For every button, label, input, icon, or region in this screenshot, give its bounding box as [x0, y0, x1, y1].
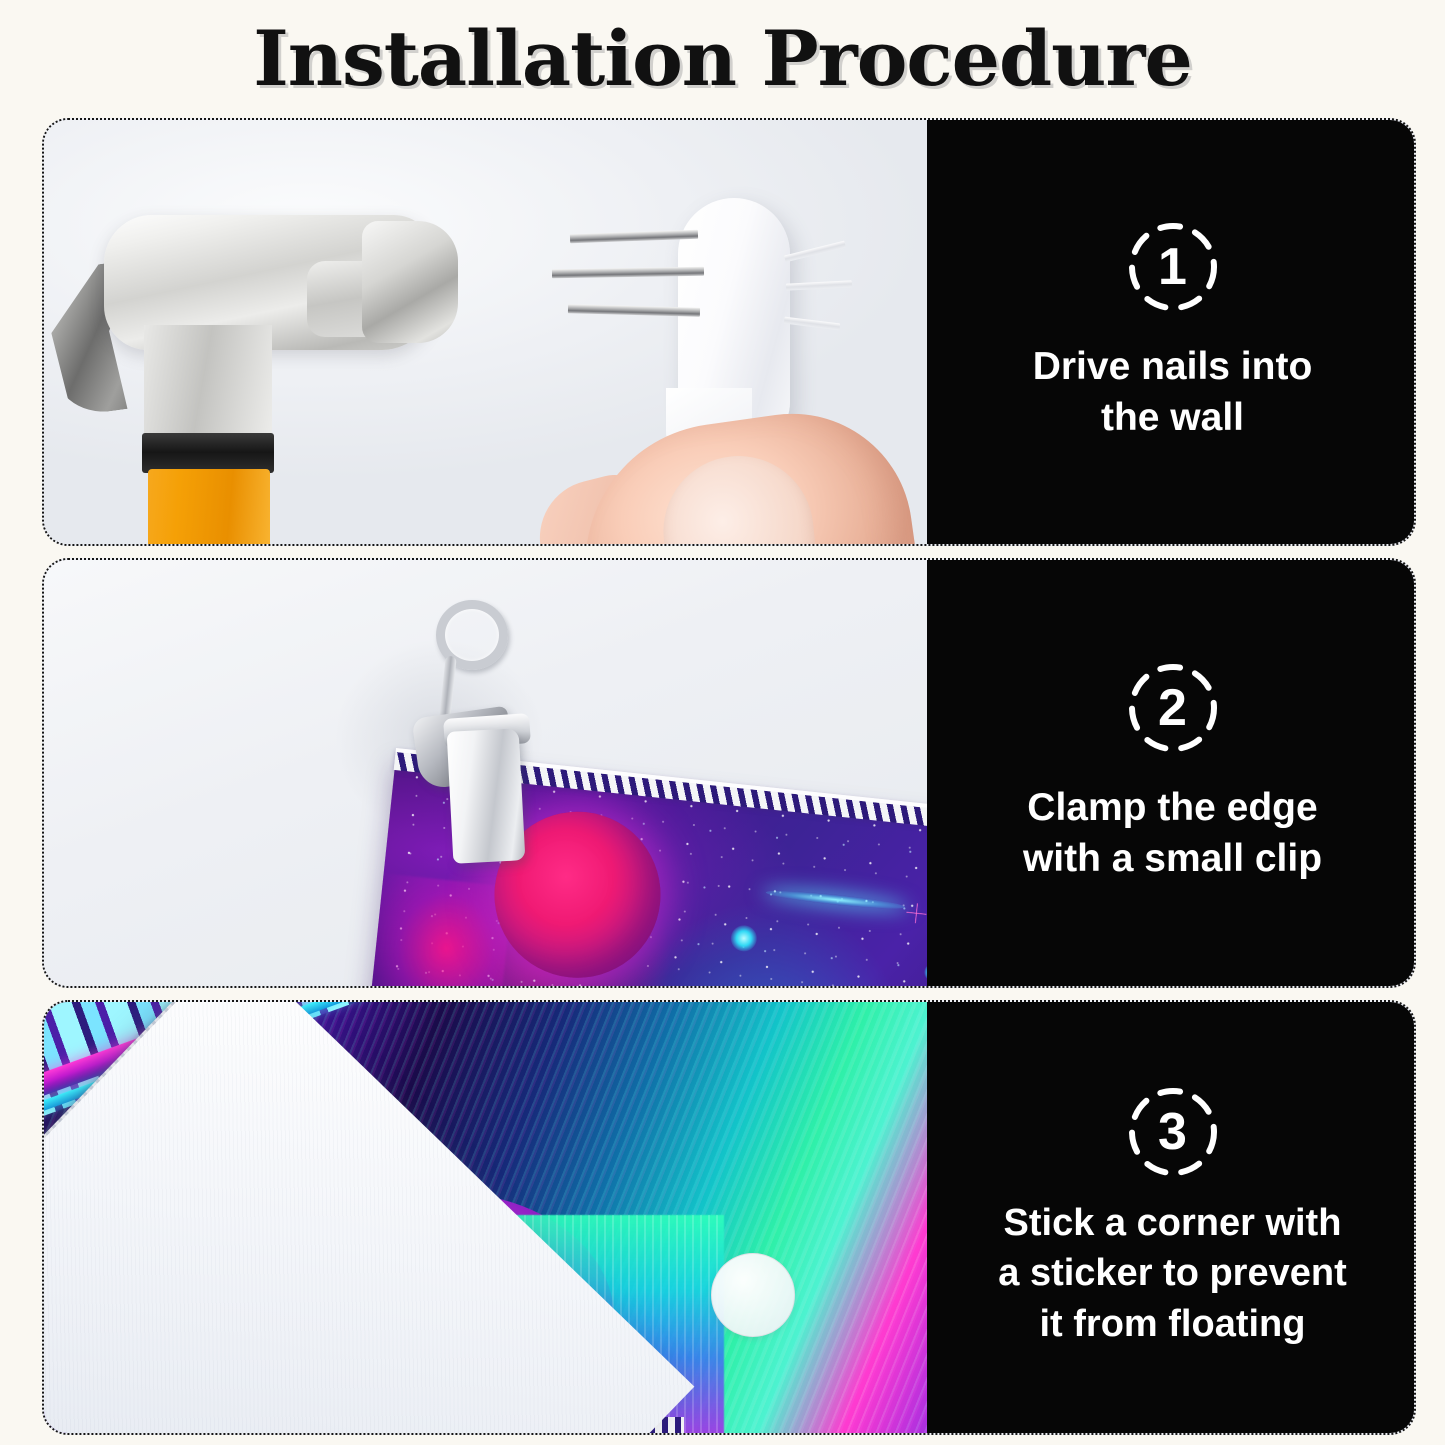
- step-number: 1: [1158, 241, 1187, 293]
- hammer-handle-icon: [148, 469, 270, 544]
- step-3-photo: [44, 1002, 927, 1433]
- step-caption-line: Stick a corner with: [1004, 1202, 1342, 1244]
- step-caption-line: it from floating: [1040, 1303, 1306, 1345]
- step-row-2: 2 Clamp the edge with a small clip: [42, 558, 1416, 988]
- step-2-photo: [44, 560, 927, 986]
- step-1-caption: Drive nails into the wall: [1017, 341, 1329, 444]
- dashed-circle-icon: 1: [1127, 221, 1219, 313]
- sparkle-icon: [905, 902, 927, 924]
- dashed-circle-icon: 2: [1127, 662, 1219, 754]
- step-caption-line: Clamp the edge: [1027, 786, 1317, 829]
- step-1-photo: [44, 120, 927, 544]
- step-2-info-panel: 2 Clamp the edge with a small clip: [927, 560, 1416, 986]
- step-number: 3: [1158, 1106, 1187, 1158]
- clip-jaw-icon: [447, 728, 526, 864]
- step-caption-line: a sticker to prevent: [998, 1252, 1346, 1294]
- step-3-info-panel: 3 Stick a corner with a sticker to preve…: [927, 1002, 1416, 1433]
- claw-hammer-icon: [52, 205, 472, 435]
- hammer-shank-icon: [144, 325, 272, 445]
- step-1-info-panel: 1 Drive nails into the wall: [927, 120, 1416, 544]
- dashed-circle-icon: 3: [1127, 1086, 1219, 1178]
- step-caption-line: Drive nails into: [1033, 345, 1313, 388]
- round-sticker-icon: [711, 1253, 795, 1337]
- installation-procedure-infographic: Installation Procedure: [0, 0, 1445, 1445]
- step-2-caption: Clamp the edge with a small clip: [1007, 782, 1338, 885]
- nebula-icon: [365, 871, 513, 986]
- hammer-ferrule-icon: [142, 433, 274, 473]
- nail-icon: [784, 241, 846, 263]
- nail-icon: [784, 317, 840, 331]
- nail-icon: [786, 280, 852, 290]
- hammer-face-icon: [362, 221, 458, 343]
- step-3-caption: Stick a corner with a sticker to prevent…: [982, 1198, 1362, 1348]
- step-caption-line: the wall: [1101, 396, 1244, 439]
- step-row-3: 3 Stick a corner with a sticker to preve…: [42, 1000, 1416, 1435]
- step-caption-line: with a small clip: [1023, 837, 1322, 880]
- step-row-1: 1 Drive nails into the wall: [42, 118, 1416, 546]
- page-title: Installation Procedure: [0, 14, 1445, 103]
- step-number: 2: [1158, 682, 1187, 734]
